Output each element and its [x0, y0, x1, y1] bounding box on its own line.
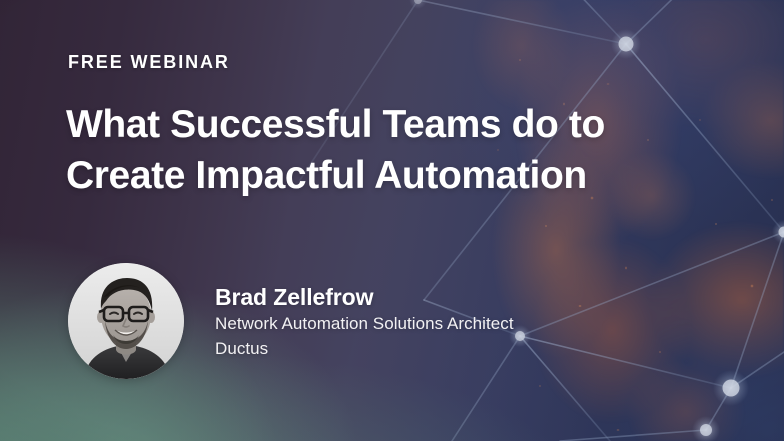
headline-line-2: Create Impactful Automation — [66, 151, 726, 202]
speaker-organization: Ductus — [215, 337, 514, 361]
speaker-role: Network Automation Solutions Architect — [215, 312, 514, 336]
slide-content: FREE WEBINAR What Successful Teams do to… — [0, 0, 784, 441]
eyebrow-label: FREE WEBINAR — [68, 53, 230, 71]
avatar — [68, 263, 184, 379]
headshot-photo-icon — [68, 263, 184, 379]
headline-line-1: What Successful Teams do to — [66, 100, 726, 151]
speaker-name: Brad Zellefrow — [215, 283, 514, 312]
page-title: What Successful Teams do to Create Impac… — [66, 100, 726, 201]
speaker-info: Brad Zellefrow Network Automation Soluti… — [215, 283, 514, 361]
webinar-promo-slide: FREE WEBINAR What Successful Teams do to… — [0, 0, 784, 441]
